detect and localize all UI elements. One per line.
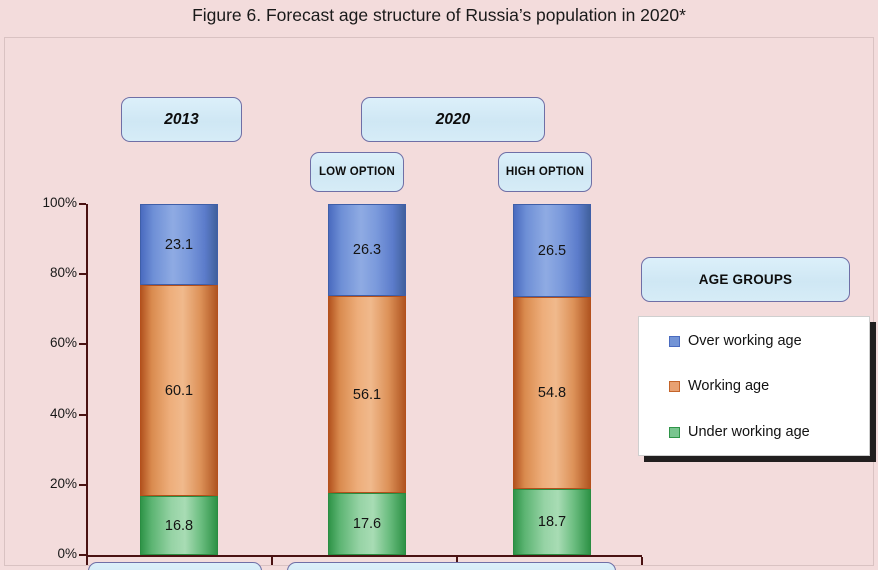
y-axis-tick: [79, 414, 86, 416]
y-axis-tick: [79, 343, 86, 345]
legend-item[interactable]: Working age: [669, 378, 769, 394]
bar-segment-under-working-age[interactable]: 18.7: [513, 489, 591, 555]
legend-swatch-over-working-age-icon: [669, 336, 680, 347]
bar-value-label: 56.1: [353, 387, 381, 403]
bar-value-label: 60.1: [165, 383, 193, 399]
callout-low-option-label: LOW OPTION: [319, 166, 395, 178]
callout-year-2013[interactable]: 2013: [121, 97, 242, 142]
chart-frame: 100%80%60%40%20%0% 23.160.116.826.356.11…: [4, 37, 874, 566]
callout-age-groups[interactable]: AGE GROUPS: [641, 257, 850, 302]
stacked-bar[interactable]: 23.160.116.8: [140, 204, 218, 555]
bar-segment-under-working-age[interactable]: 17.6: [328, 493, 406, 555]
bar-value-label: 16.8: [165, 518, 193, 534]
y-axis-tick: [79, 484, 86, 486]
y-axis-line: [86, 204, 88, 556]
bar-segment-working-age[interactable]: 56.1: [328, 296, 406, 493]
y-axis-label: 0%: [31, 546, 77, 561]
legend-label: Working age: [688, 378, 769, 394]
bar-value-label: 26.3: [353, 242, 381, 258]
y-axis-tick: [79, 203, 86, 205]
legend-swatch-working-age-icon: [669, 381, 680, 392]
bar-segment-working-age[interactable]: 54.8: [513, 297, 591, 489]
x-axis-tick: [271, 557, 273, 565]
callout-high-option-label: HIGH OPTION: [506, 166, 584, 178]
bar-segment-over-working-age[interactable]: 26.3: [328, 204, 406, 296]
callout-low-option[interactable]: LOW OPTION: [310, 152, 404, 192]
y-axis-label: 100%: [31, 195, 77, 210]
bar-segment-under-working-age[interactable]: 16.8: [140, 496, 218, 555]
callout-forecast[interactable]: FORECAST: [287, 562, 616, 570]
legend-item[interactable]: Under working age: [669, 424, 810, 440]
callout-age-groups-label: AGE GROUPS: [699, 272, 793, 287]
bar-segment-working-age[interactable]: 60.1: [140, 285, 218, 496]
y-axis-label: 80%: [31, 265, 77, 280]
bar-value-label: 18.7: [538, 514, 566, 530]
legend-label: Under working age: [688, 424, 810, 440]
legend-item[interactable]: Over working age: [669, 333, 802, 349]
stacked-bar[interactable]: 26.356.117.6: [328, 204, 406, 555]
bar-value-label: 26.5: [538, 243, 566, 259]
y-axis-tick: [79, 554, 86, 556]
chart-legend: Over working ageWorking ageUnder working…: [638, 316, 870, 456]
y-axis-tick: [79, 273, 86, 275]
y-axis-label: 40%: [31, 406, 77, 421]
x-axis-line: [86, 555, 642, 557]
bar-value-label: 23.1: [165, 237, 193, 253]
bar-value-label: 17.6: [353, 516, 381, 532]
chart-screenshot: Figure 6. Forecast age structure of Russ…: [0, 0, 878, 570]
callout-fact[interactable]: FACT: [88, 562, 262, 570]
callout-year-2020-label: 2020: [436, 111, 470, 129]
callout-year-2020[interactable]: 2020: [361, 97, 545, 142]
page-title: Figure 6. Forecast age structure of Russ…: [0, 0, 878, 37]
bar-segment-over-working-age[interactable]: 23.1: [140, 204, 218, 285]
callout-year-2013-label: 2013: [164, 111, 198, 129]
callout-high-option[interactable]: HIGH OPTION: [498, 152, 592, 192]
x-axis-tick: [86, 557, 88, 565]
legend-swatch-under-working-age-icon: [669, 427, 680, 438]
bar-segment-over-working-age[interactable]: 26.5: [513, 204, 591, 297]
x-axis-tick: [641, 557, 643, 565]
legend-label: Over working age: [688, 333, 802, 349]
y-axis-label: 60%: [31, 335, 77, 350]
stacked-bar[interactable]: 26.554.818.7: [513, 204, 591, 555]
bar-value-label: 54.8: [538, 385, 566, 401]
y-axis-label: 20%: [31, 476, 77, 491]
